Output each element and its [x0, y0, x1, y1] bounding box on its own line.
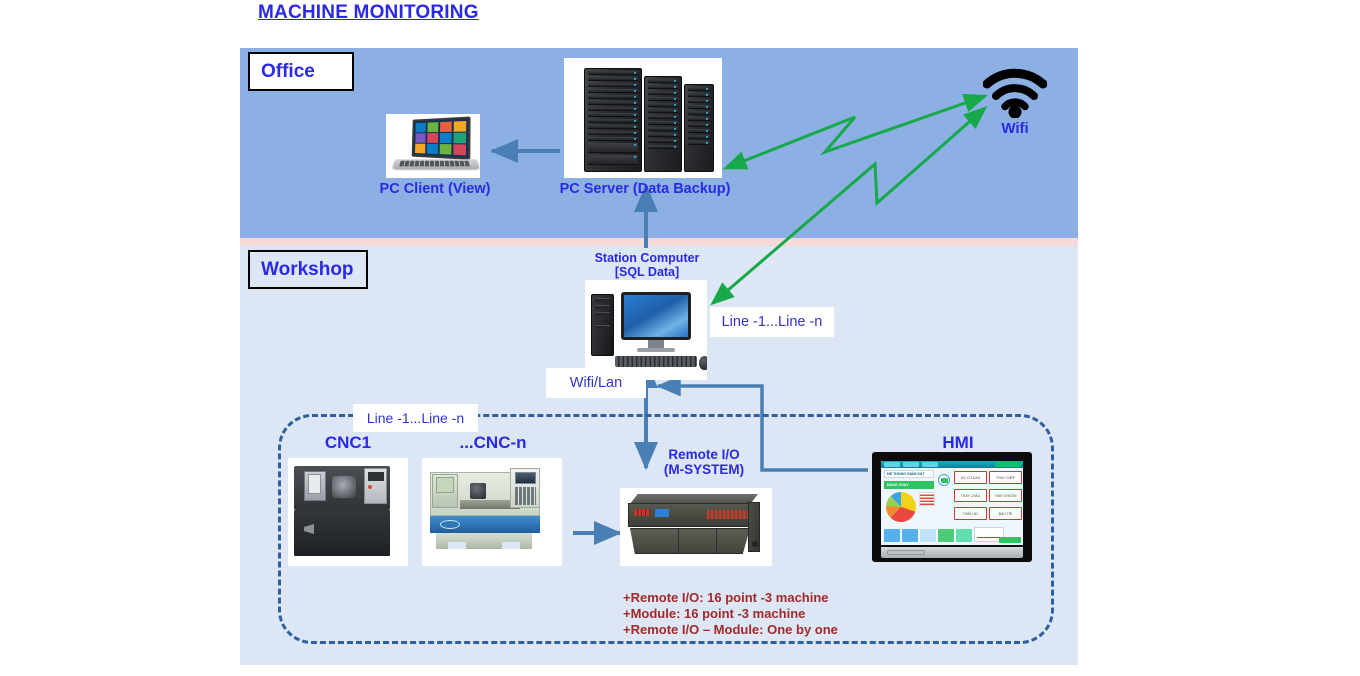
hmi-camera-nub	[940, 452, 964, 453]
cncn-label: ...CNC-n	[438, 433, 548, 453]
hmi-image: HỆ THỐNG GIÁM SÁT ĐANG CHẠY SỰ CỐ DAO TH…	[872, 452, 1034, 580]
cncn-control-panel	[510, 468, 540, 508]
remote-io-side-panel	[748, 502, 760, 552]
office-zone-label-text: Office	[261, 61, 315, 83]
wifi-label: Wifi	[975, 120, 1055, 137]
laptop-keyboard	[399, 161, 471, 167]
monitor-stand	[648, 340, 664, 348]
hmi-status-banner: ĐANG CHẠY	[884, 481, 934, 489]
station-computer-image	[585, 280, 707, 380]
server-rack-icon	[584, 68, 642, 172]
server-rack-icon-2	[644, 76, 682, 172]
workshop-zone-label-text: Workshop	[261, 259, 354, 281]
mouse-icon	[699, 356, 707, 370]
laptop-icon	[412, 116, 471, 159]
cncn-image	[422, 458, 562, 566]
hmi-panel-title: HỆ THỐNG GIÁM SÁT	[884, 470, 934, 478]
hmi-footer-tag[interactable]	[999, 537, 1021, 543]
hmi-screen: HỆ THỐNG GIÁM SÁT ĐANG CHẠY SỰ CỐ DAO TH…	[881, 461, 1023, 545]
cnc1-window	[308, 474, 321, 494]
hmi-tile-row	[884, 529, 972, 542]
hmi-button-1[interactable]: SỰ CỐ DAO	[954, 471, 987, 484]
cnc1-chuck	[332, 476, 356, 498]
page-title: MACHINE MONITORING	[258, 2, 479, 24]
pc-server-image	[564, 58, 722, 178]
remote-io-label-line2: (M-SYSTEM)	[626, 462, 782, 477]
hmi-pie-chart	[886, 492, 916, 522]
cnc1-control-panel	[364, 468, 387, 504]
keyboard-icon	[615, 356, 697, 367]
workshop-zone-label: Workshop	[248, 250, 368, 289]
hmi-touch-panel-icon: HỆ THỐNG GIÁM SÁT ĐANG CHẠY SỰ CỐ DAO TH…	[872, 452, 1032, 562]
remote-io-faceplate	[628, 503, 756, 527]
line-range-callout-group: Line -1...Line -n	[353, 404, 478, 432]
station-computer-label-line1: Station Computer	[567, 251, 727, 265]
cncn-blue-base	[430, 516, 540, 533]
cnc1-base	[294, 510, 390, 556]
remote-io-image	[620, 488, 772, 566]
remote-io-label-line1: Remote I/O	[626, 447, 782, 462]
cnc1-label: CNC1	[300, 433, 396, 453]
remote-io-notes: +Remote I/O: 16 point -3 machine +Module…	[623, 590, 838, 638]
cncn-foot	[436, 533, 532, 549]
hmi-pie-legend	[919, 492, 935, 506]
monitor-foot	[637, 348, 675, 352]
wifi-lan-callout: Wifi/Lan	[546, 368, 646, 398]
office-zone-label: Office	[248, 52, 354, 91]
note-line-3: +Remote I/O – Module: One by one	[623, 622, 838, 638]
diagram-canvas: MACHINE MONITORING Office Workshop	[0, 0, 1360, 676]
note-line-1: +Remote I/O: 16 point -3 machine	[623, 590, 838, 606]
zone-divider	[240, 238, 1078, 246]
pc-client-image	[386, 114, 480, 178]
cncn-chuck	[470, 483, 486, 499]
server-rack-icon-3	[684, 84, 714, 172]
station-computer-label-line2: [SQL Data]	[567, 265, 727, 279]
hmi-button-4[interactable]: THAY KHUÔN	[989, 489, 1022, 502]
hmi-toolbar	[881, 461, 1023, 468]
cncn-cabin-window	[436, 477, 454, 493]
hmi-button-3[interactable]: THAY CHẤU	[954, 489, 987, 502]
remote-io-lower-cover	[630, 528, 750, 554]
pc-server-label: PC Server (Data Backup)	[545, 181, 745, 197]
hmi-button-5[interactable]: THIẾU NV	[954, 507, 987, 520]
note-line-2: +Module: 16 point -3 machine	[623, 606, 838, 622]
desktop-computer-icon	[591, 294, 614, 356]
pc-client-label: PC Client (View)	[365, 181, 505, 197]
hmi-chin	[881, 547, 1023, 558]
monitor-icon	[621, 292, 691, 340]
hmi-button-2[interactable]: THAY CHÉP	[989, 471, 1022, 484]
hmi-ok-badge[interactable]	[938, 474, 950, 486]
cnc1-image	[288, 458, 408, 566]
wifi-icon	[983, 68, 1047, 118]
hmi-button-6[interactable]: BẢO TRÌ	[989, 507, 1022, 520]
line-range-callout-top: Line -1...Line -n	[710, 307, 834, 337]
hmi-label: HMI	[905, 433, 1011, 453]
